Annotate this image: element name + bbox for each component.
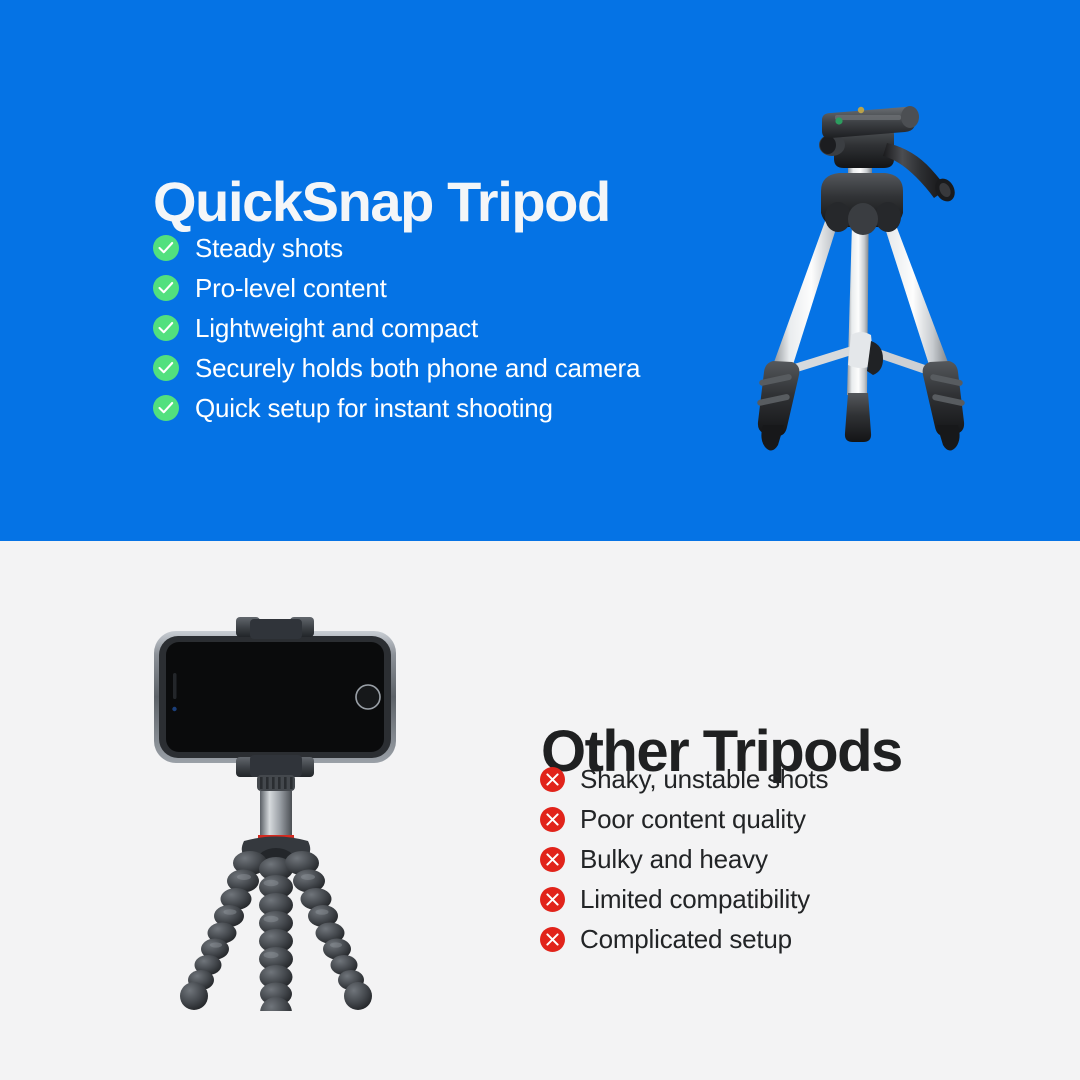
check-circle-icon	[153, 315, 179, 341]
con-panel: Other Tripods Shaky, unstable shots Poor…	[0, 541, 1080, 1080]
list-item-label: Securely holds both phone and camera	[195, 353, 640, 384]
list-item-label: Steady shots	[195, 233, 343, 264]
con-drawback-list: Shaky, unstable shots Poor content quali…	[540, 759, 1040, 959]
list-item-label: Quick setup for instant shooting	[195, 393, 553, 424]
list-item: Lightweight and compact	[153, 308, 753, 348]
x-circle-icon	[540, 887, 565, 912]
x-circle-icon	[540, 847, 565, 872]
pro-panel: QuickSnap Tripod Steady shots Pro-level …	[0, 0, 1080, 541]
comparison-infographic: QuickSnap Tripod Steady shots Pro-level …	[0, 0, 1080, 1080]
aluminum-tripod-photo	[735, 95, 995, 460]
list-item: Poor content quality	[540, 799, 1040, 839]
list-item-label: Lightweight and compact	[195, 313, 478, 344]
x-circle-icon	[540, 927, 565, 952]
list-item: Quick setup for instant shooting	[153, 388, 753, 428]
list-item: Steady shots	[153, 228, 753, 268]
check-circle-icon	[153, 355, 179, 381]
x-circle-icon	[540, 807, 565, 832]
list-item: Shaky, unstable shots	[540, 759, 1040, 799]
list-item-label: Complicated setup	[580, 924, 792, 955]
list-item: Pro-level content	[153, 268, 753, 308]
page-title: QuickSnap Tripod	[153, 174, 610, 230]
list-item-label: Pro-level content	[195, 273, 387, 304]
list-item: Bulky and heavy	[540, 839, 1040, 879]
check-circle-icon	[153, 235, 179, 261]
list-item-label: Limited compatibility	[580, 884, 810, 915]
list-item-label: Poor content quality	[580, 804, 806, 835]
x-circle-icon	[540, 767, 565, 792]
list-item: Complicated setup	[540, 919, 1040, 959]
flexible-tripod-phone-photo	[140, 611, 410, 1011]
pro-feature-list: Steady shots Pro-level content Lightweig…	[153, 228, 753, 428]
list-item-label: Shaky, unstable shots	[580, 764, 828, 795]
list-item: Securely holds both phone and camera	[153, 348, 753, 388]
list-item-label: Bulky and heavy	[580, 844, 768, 875]
check-circle-icon	[153, 275, 179, 301]
list-item: Limited compatibility	[540, 879, 1040, 919]
check-circle-icon	[153, 395, 179, 421]
